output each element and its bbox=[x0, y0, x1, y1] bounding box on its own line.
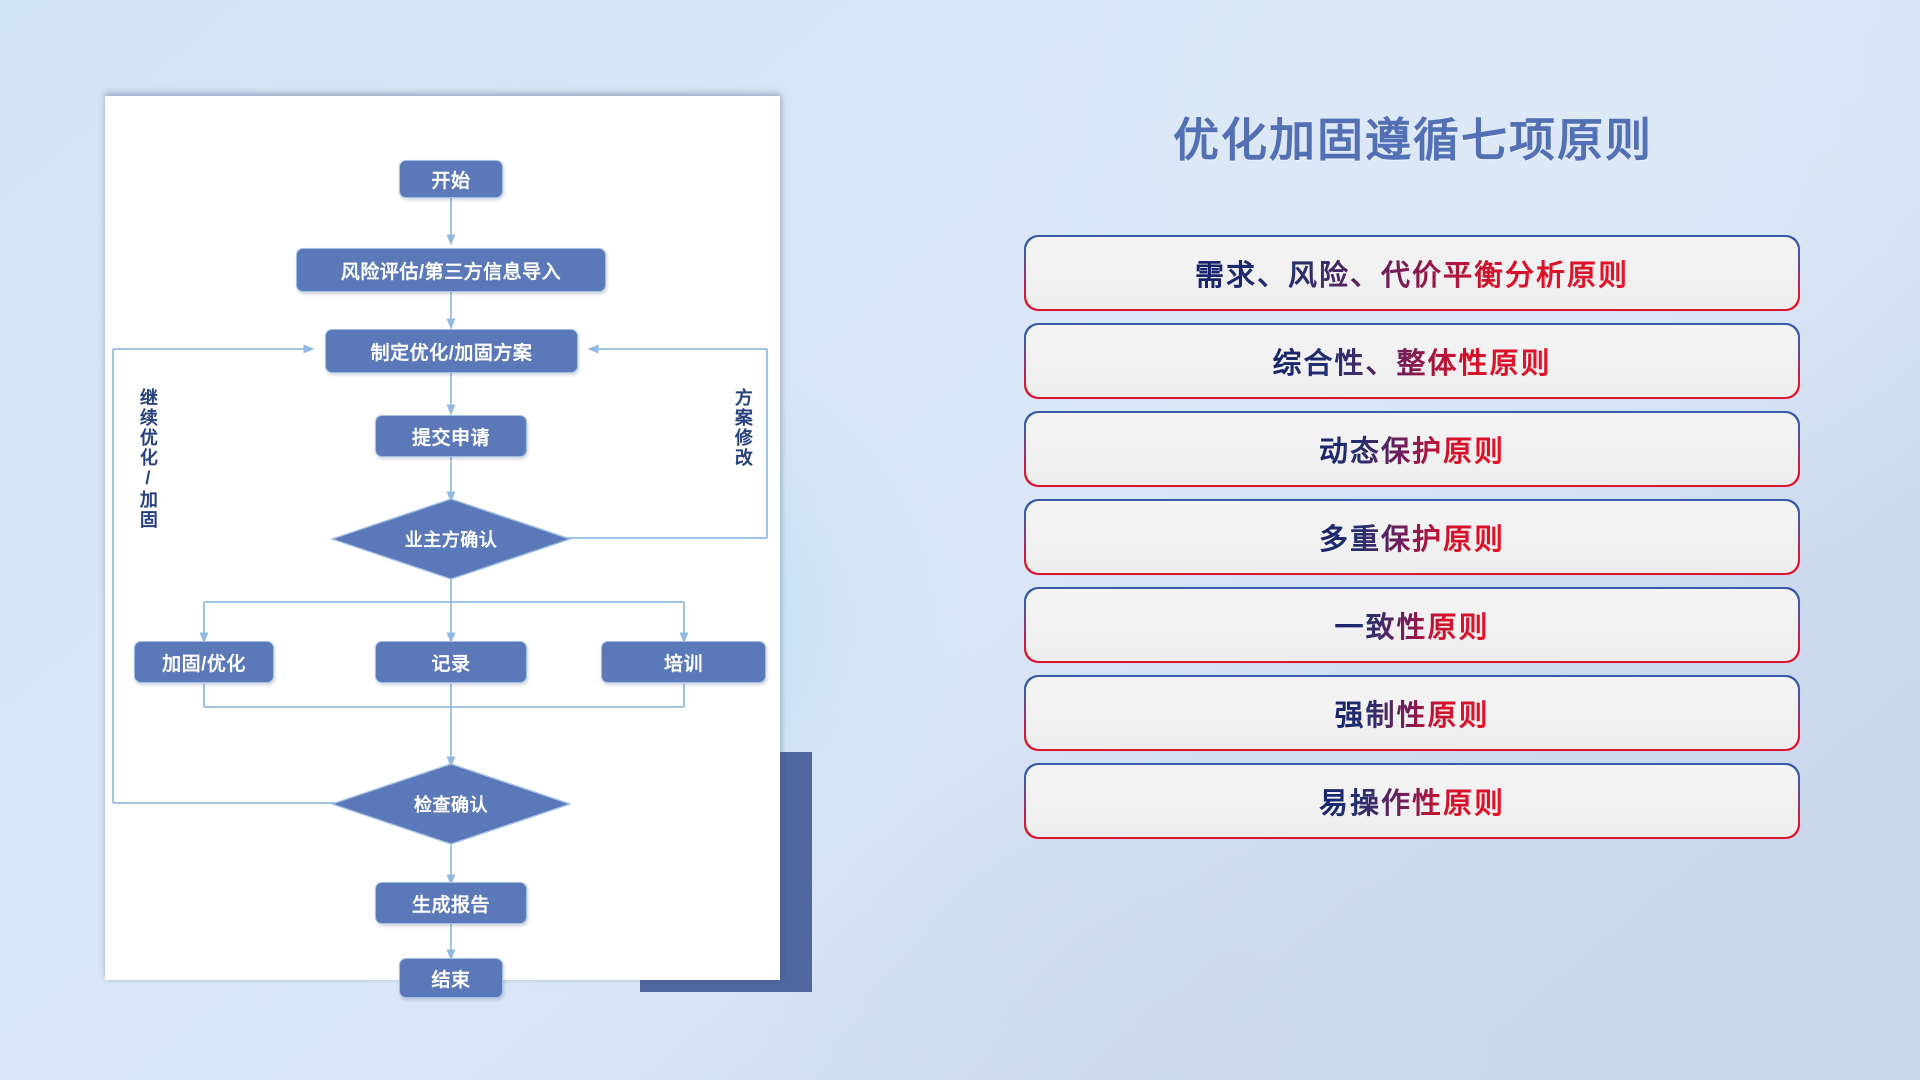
flow-node-end[interactable]: 结束 bbox=[399, 958, 503, 998]
flow-node-owner-confirm[interactable]: 业主方确认 bbox=[331, 498, 571, 580]
flow-node-risk-assessment[interactable]: 风险评估/第三方信息导入 bbox=[296, 248, 606, 292]
principle-card-3[interactable]: 动态保护原则 bbox=[1026, 413, 1798, 485]
flow-node-submit[interactable]: 提交申请 bbox=[375, 415, 527, 457]
flow-node-label: 结束 bbox=[431, 965, 470, 992]
flow-node-label: 提交申请 bbox=[412, 423, 490, 450]
flow-node-label: 记录 bbox=[431, 649, 470, 676]
flow-node-label: 风险评估/第三方信息导入 bbox=[341, 257, 561, 284]
page-title: 优化加固遵循七项原则 bbox=[938, 104, 1888, 170]
principle-label: 需求、风险、代价平衡分析原则 bbox=[1195, 252, 1629, 294]
principle-label: 综合性、整体性原则 bbox=[1272, 340, 1551, 382]
flow-node-plan[interactable]: 制定优化/加固方案 bbox=[325, 329, 578, 373]
principle-label: 动态保护原则 bbox=[1319, 428, 1505, 470]
flow-node-label: 制定优化/加固方案 bbox=[371, 338, 533, 365]
principle-label: 多重保护原则 bbox=[1319, 516, 1505, 558]
flow-node-label: 加固/优化 bbox=[162, 649, 246, 676]
principles-list: 需求、风险、代价平衡分析原则 综合性、整体性原则 动态保护原则 多重保护原则 一… bbox=[1026, 237, 1798, 853]
flowchart-stage: 开始 风险评估/第三方信息导入 制定优化/加固方案 提交申请 业主方确认 加固/… bbox=[0, 0, 900, 1080]
principles-stage: 优化加固遵循七项原则 需求、风险、代价平衡分析原则 综合性、整体性原则 动态保护… bbox=[900, 0, 1920, 1080]
loop-label-right: 方案修改 bbox=[733, 388, 752, 468]
principle-card-2[interactable]: 综合性、整体性原则 bbox=[1026, 325, 1798, 397]
principle-card-4[interactable]: 多重保护原则 bbox=[1026, 501, 1798, 573]
principle-card-1[interactable]: 需求、风险、代价平衡分析原则 bbox=[1026, 237, 1798, 309]
flow-node-reinforce[interactable]: 加固/优化 bbox=[134, 641, 274, 683]
flow-node-label: 开始 bbox=[431, 166, 470, 193]
flowchart-canvas: 开始 风险评估/第三方信息导入 制定优化/加固方案 提交申请 业主方确认 加固/… bbox=[0, 0, 900, 1080]
principle-label: 易操作性原则 bbox=[1319, 780, 1505, 822]
principle-card-7[interactable]: 易操作性原则 bbox=[1026, 765, 1798, 837]
flow-node-label: 生成报告 bbox=[412, 890, 490, 917]
flow-node-start[interactable]: 开始 bbox=[399, 160, 503, 198]
flow-node-check-confirm[interactable]: 检查确认 bbox=[331, 763, 571, 845]
flow-node-training[interactable]: 培训 bbox=[601, 641, 766, 683]
principle-card-5[interactable]: 一致性原则 bbox=[1026, 589, 1798, 661]
flow-node-record[interactable]: 记录 bbox=[375, 641, 527, 683]
loop-label-left: 继续优化/加固 bbox=[138, 388, 157, 530]
flow-node-label: 培训 bbox=[664, 649, 703, 676]
principle-label: 强制性原则 bbox=[1334, 692, 1489, 734]
principle-label: 一致性原则 bbox=[1334, 604, 1489, 646]
flow-node-report[interactable]: 生成报告 bbox=[375, 882, 527, 924]
principle-card-6[interactable]: 强制性原则 bbox=[1026, 677, 1798, 749]
